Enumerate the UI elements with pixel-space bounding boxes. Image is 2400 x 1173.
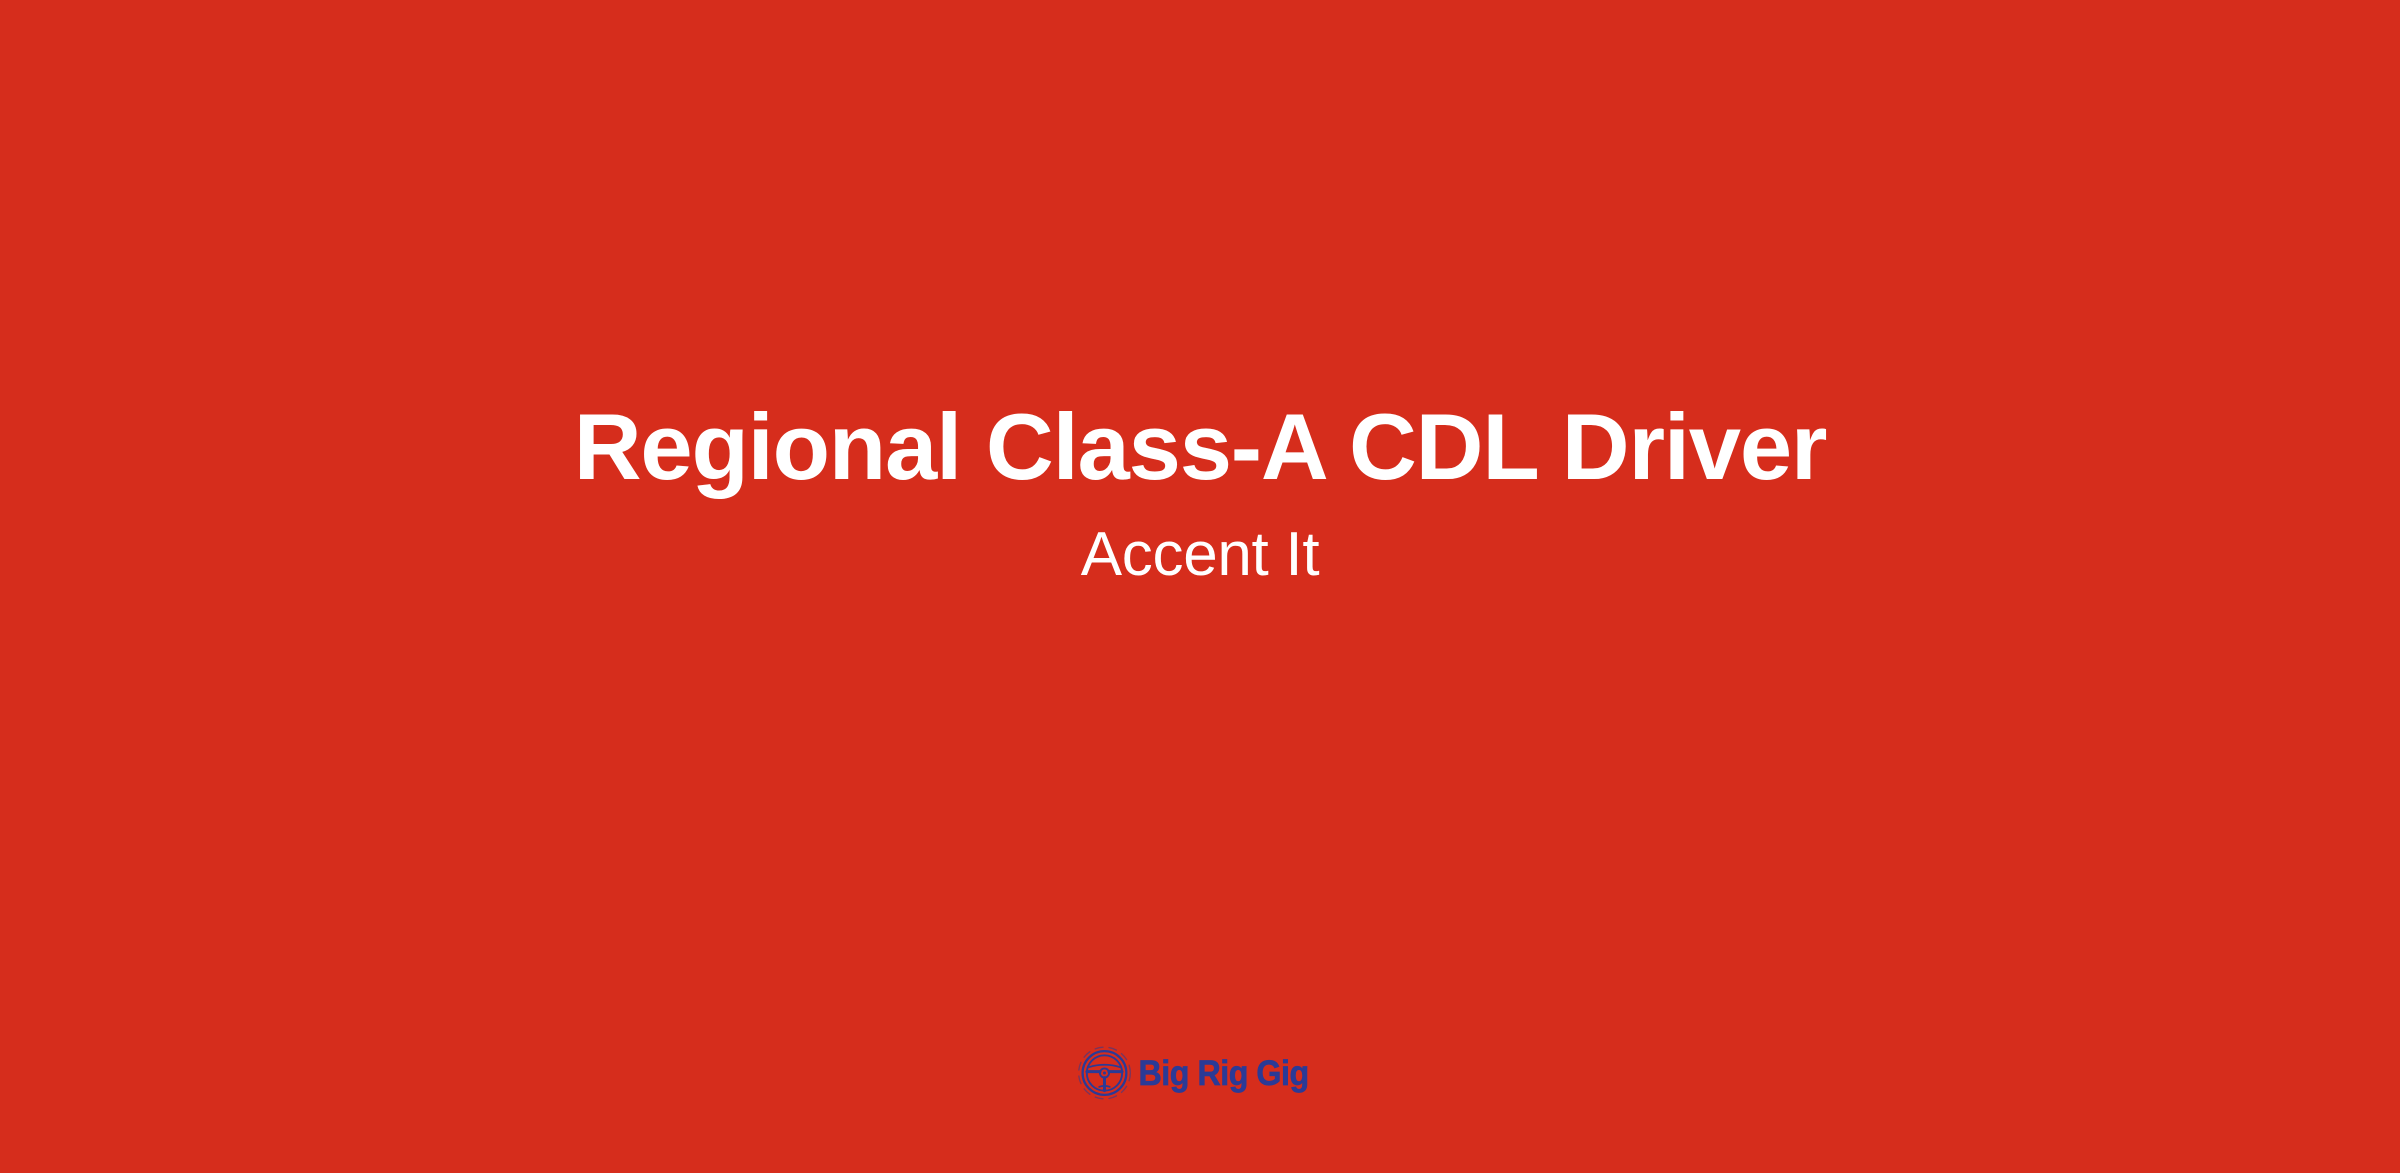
steering-wheel-icon <box>1076 1045 1132 1101</box>
page-title: Regional Class-A CDL Driver <box>574 396 1827 498</box>
job-poster-card: Regional Class-A CDL Driver Accent It <box>0 0 2400 1173</box>
brand-logo[interactable]: Big Rig Gig <box>1076 1044 1323 1102</box>
headline-block: Regional Class-A CDL Driver Accent It <box>0 396 2400 589</box>
brand-wordmark: Big Rig Gig <box>1138 1056 1308 1091</box>
company-name: Accent It <box>1081 520 1320 589</box>
